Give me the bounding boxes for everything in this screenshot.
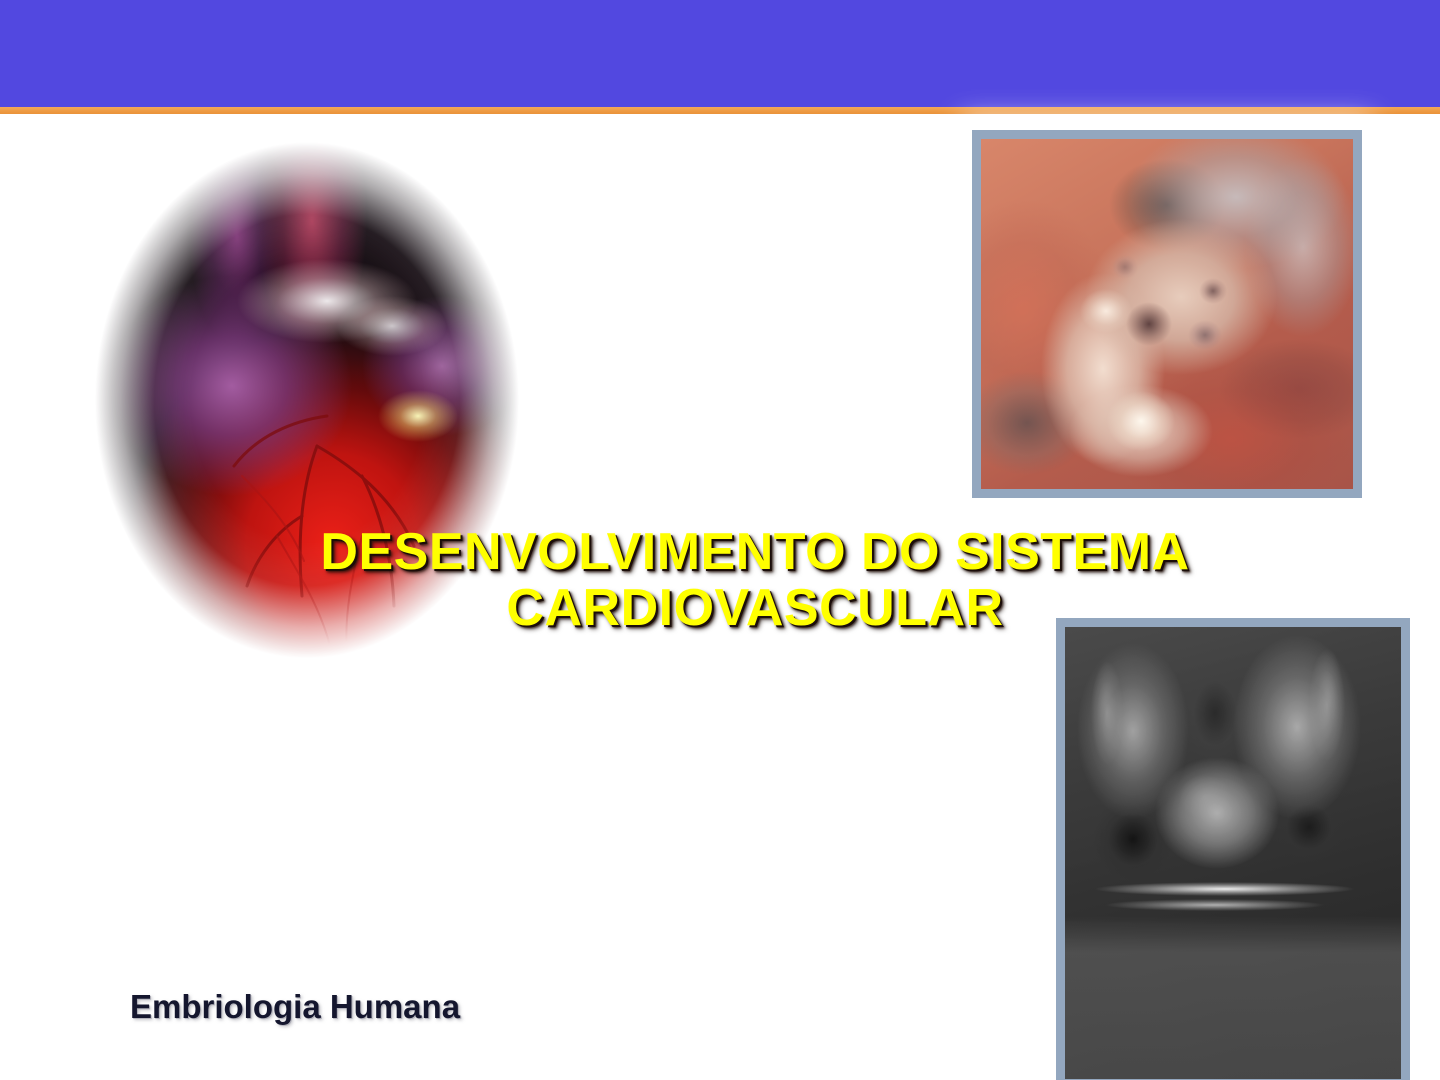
embryo-photo-image bbox=[981, 139, 1353, 489]
sem-heart-photo-image bbox=[1065, 627, 1401, 1079]
header-accent-rule bbox=[0, 107, 1440, 114]
slide-title: DESENVOLVIMENTO DO SISTEMA CARDIOVASCULA… bbox=[190, 524, 1320, 636]
header-band bbox=[0, 0, 1440, 107]
presentation-slide: DESENVOLVIMENTO DO SISTEMA CARDIOVASCULA… bbox=[0, 0, 1440, 1080]
sem-heart-photo-inner bbox=[1065, 627, 1401, 1079]
sem-heart-photo bbox=[1056, 618, 1410, 1080]
slide-subtitle: Embriologia Humana bbox=[130, 988, 460, 1026]
embryo-photo bbox=[972, 130, 1362, 498]
embryo-photo-inner bbox=[981, 139, 1353, 489]
